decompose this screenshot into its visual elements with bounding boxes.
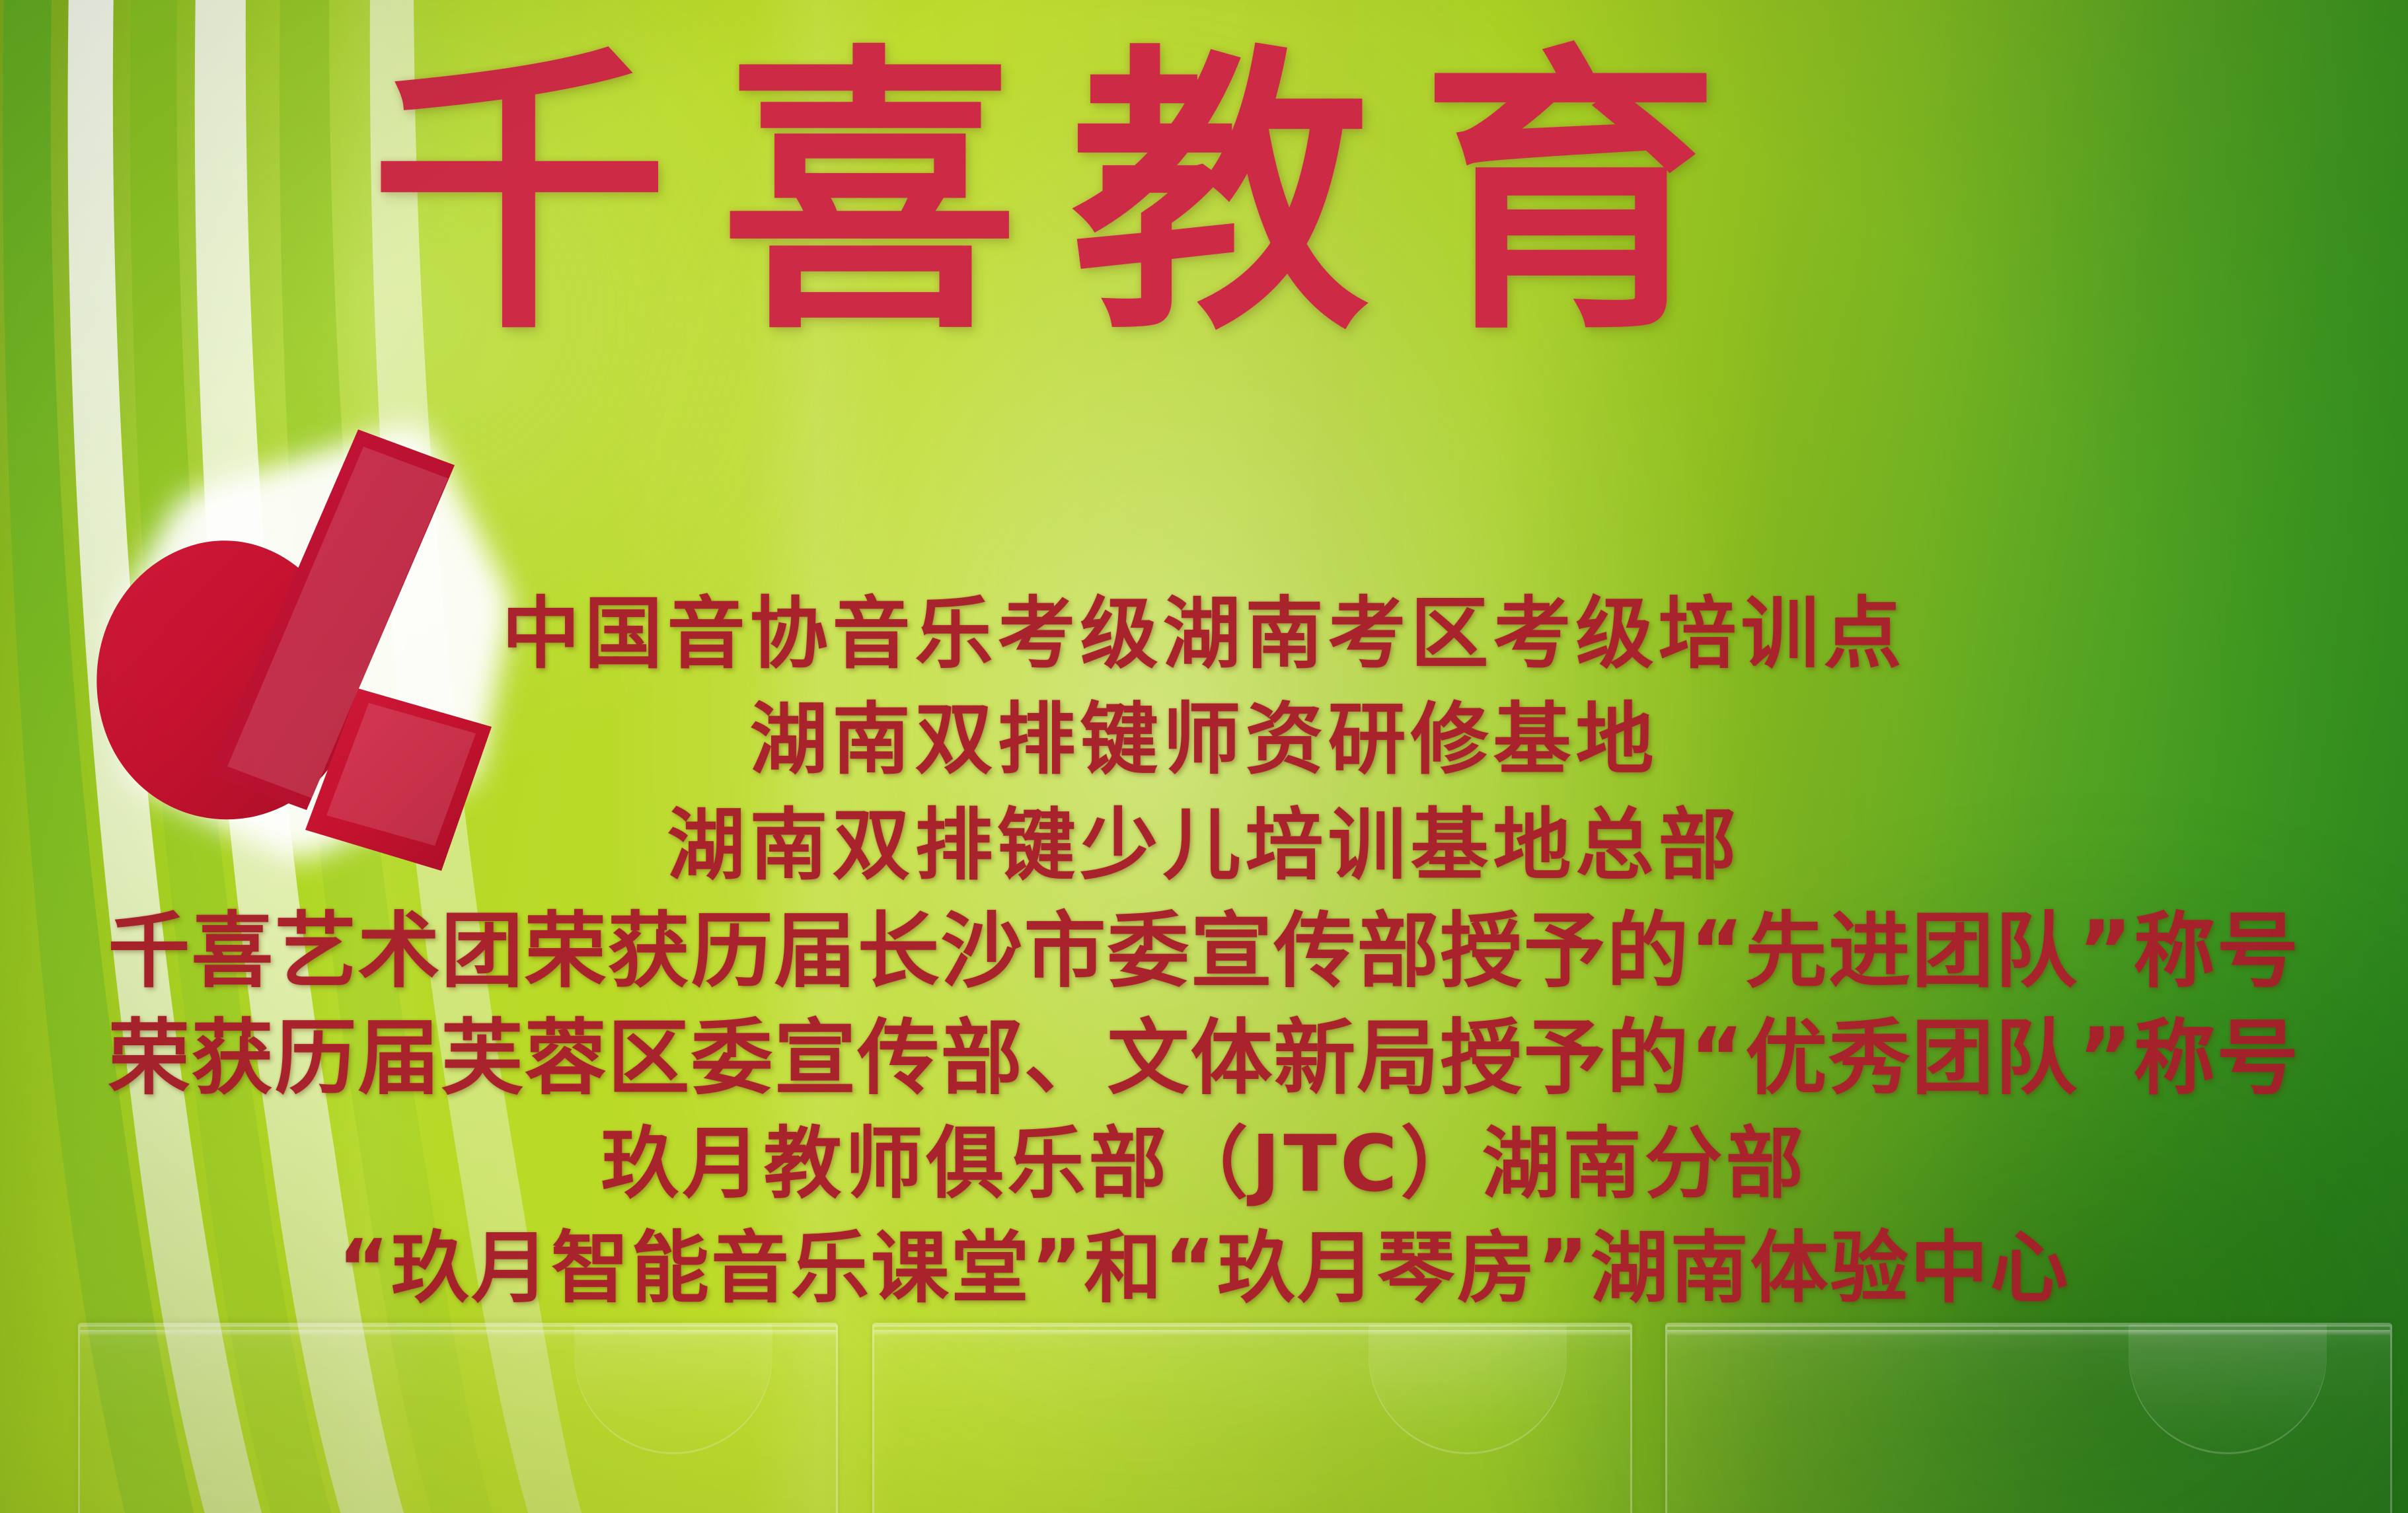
pocket-notch [2128, 1323, 2327, 1454]
brochure-pocket-right[interactable] [1665, 1323, 2392, 1513]
brochure-pocket-center[interactable] [872, 1323, 1632, 1513]
pocket-notch [574, 1323, 772, 1454]
credential-line: 玖月教师俱乐部（JTC）湖南分部 [0, 1125, 2408, 1202]
credential-line: 湖南双排键师资研修基地 [0, 700, 2408, 778]
signboard-photo: 千喜教育 中国音协音乐考级湖南考区考级培训点 湖南双排键师资研修基地 湖南双排键… [0, 0, 2408, 1513]
credential-line: 湖南双排键少儿培训基地总部 [0, 806, 2408, 884]
brochure-pocket-left[interactable] [78, 1323, 838, 1513]
credentials-list: 中国音协音乐考级湖南考区考级培训点 湖南双排键师资研修基地 湖南双排键少儿培训基… [0, 595, 2408, 1307]
credential-line: 中国音协音乐考级湖南考区考级培训点 [0, 595, 2408, 673]
pocket-notch [1369, 1323, 1567, 1454]
page-title: 千喜教育 [370, 46, 2062, 345]
credential-line: 荣获历届芙蓉区委宣传部、文体新局授予的“优秀团队”称号 [0, 1017, 2408, 1099]
credential-line: 千喜艺术团荣获历届长沙市委宣传部授予的“先进团队”称号 [0, 910, 2408, 992]
credential-line: “玖月智能音乐课堂”和“玖月琴房”湖南体验中心 [0, 1229, 2408, 1307]
